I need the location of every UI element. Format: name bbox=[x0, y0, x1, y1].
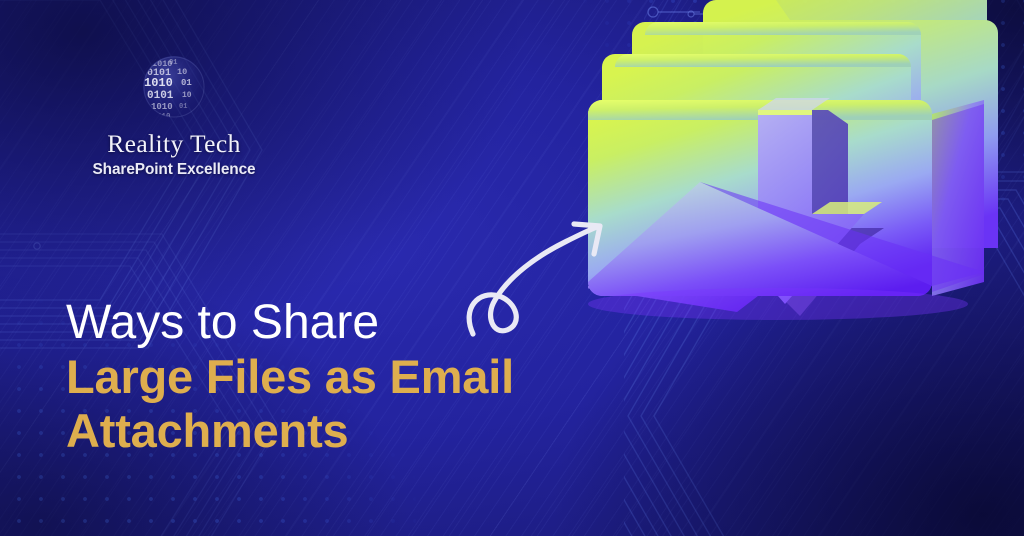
logo-name: Reality Tech bbox=[54, 130, 294, 158]
svg-text:1010: 1010 bbox=[144, 76, 173, 90]
svg-text:01: 01 bbox=[169, 59, 177, 67]
headline-line-3: Attachments bbox=[66, 404, 686, 458]
svg-text:10: 10 bbox=[177, 67, 187, 77]
svg-text:10: 10 bbox=[182, 91, 192, 100]
svg-text:0101: 0101 bbox=[147, 90, 174, 102]
svg-text:01: 01 bbox=[181, 78, 192, 88]
headline: Ways to Share Large Files as Email Attac… bbox=[66, 296, 686, 458]
logo-lockup: 1010 01 0101 10 1010 01 0101 10 1010 01 … bbox=[54, 48, 294, 179]
headline-line-1: Ways to Share bbox=[66, 296, 686, 350]
marketing-banner: 1010 01 0101 10 1010 01 0101 10 1010 01 … bbox=[0, 0, 1024, 536]
headline-line-2: Large Files as Email bbox=[66, 350, 686, 404]
svg-text:01: 01 bbox=[179, 103, 187, 111]
binary-sphere-globe-icon: 1010 01 0101 10 1010 01 0101 10 1010 01 … bbox=[135, 48, 213, 126]
logo-tagline: SharePoint Excellence bbox=[54, 161, 294, 179]
folder-stack-with-download-arrow bbox=[588, 0, 1024, 347]
